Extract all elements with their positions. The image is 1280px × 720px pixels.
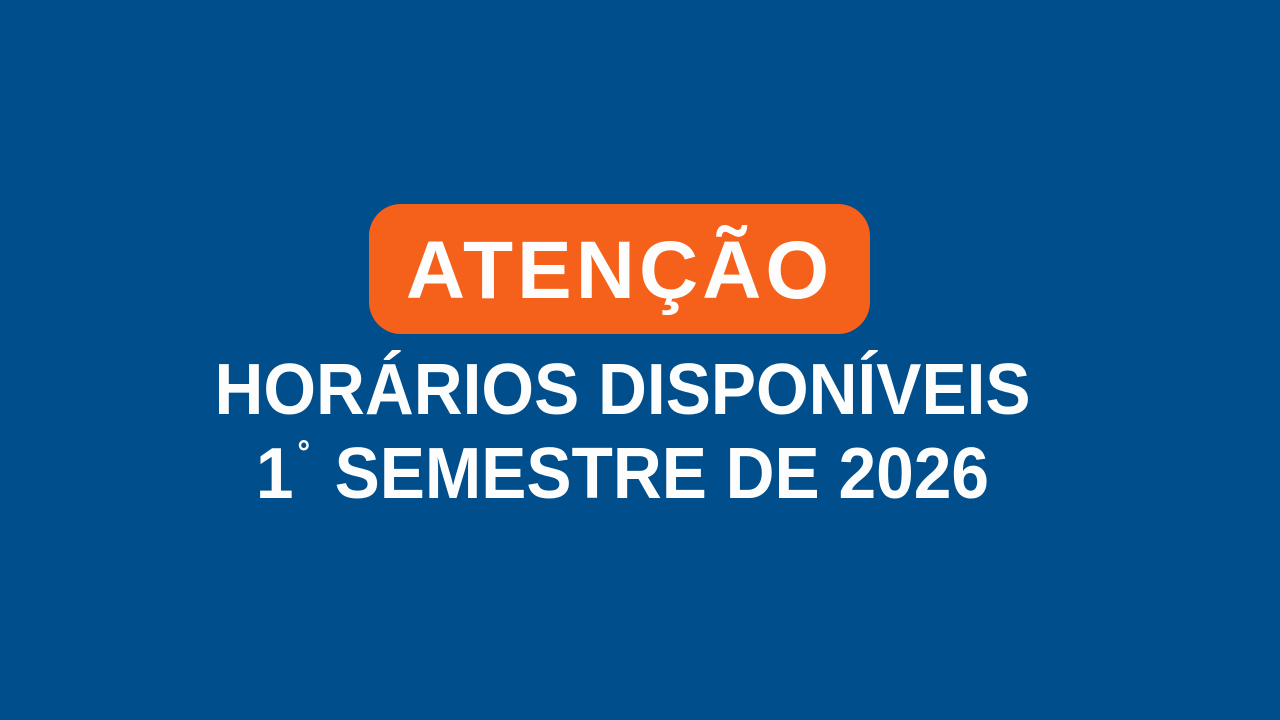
- attention-badge-label: ATENÇÃO: [406, 230, 833, 312]
- semester-number: 1: [256, 432, 294, 516]
- announcement-poster: ATENÇÃO HORÁRIOS DISPONÍVEIS 1 ° SEMESTR…: [0, 0, 1280, 720]
- headline-line-availability: HORÁRIOS DISPONÍVEIS: [37, 348, 1207, 432]
- headline-block: HORÁRIOS DISPONÍVEIS 1 ° SEMESTRE DE 202…: [0, 348, 1245, 516]
- ordinal-degree-icon: °: [297, 436, 310, 470]
- headline-line-semester: 1 ° SEMESTRE DE 2026: [37, 432, 1207, 516]
- semester-label: SEMESTRE DE 2026: [335, 432, 990, 516]
- attention-badge: ATENÇÃO: [369, 204, 870, 334]
